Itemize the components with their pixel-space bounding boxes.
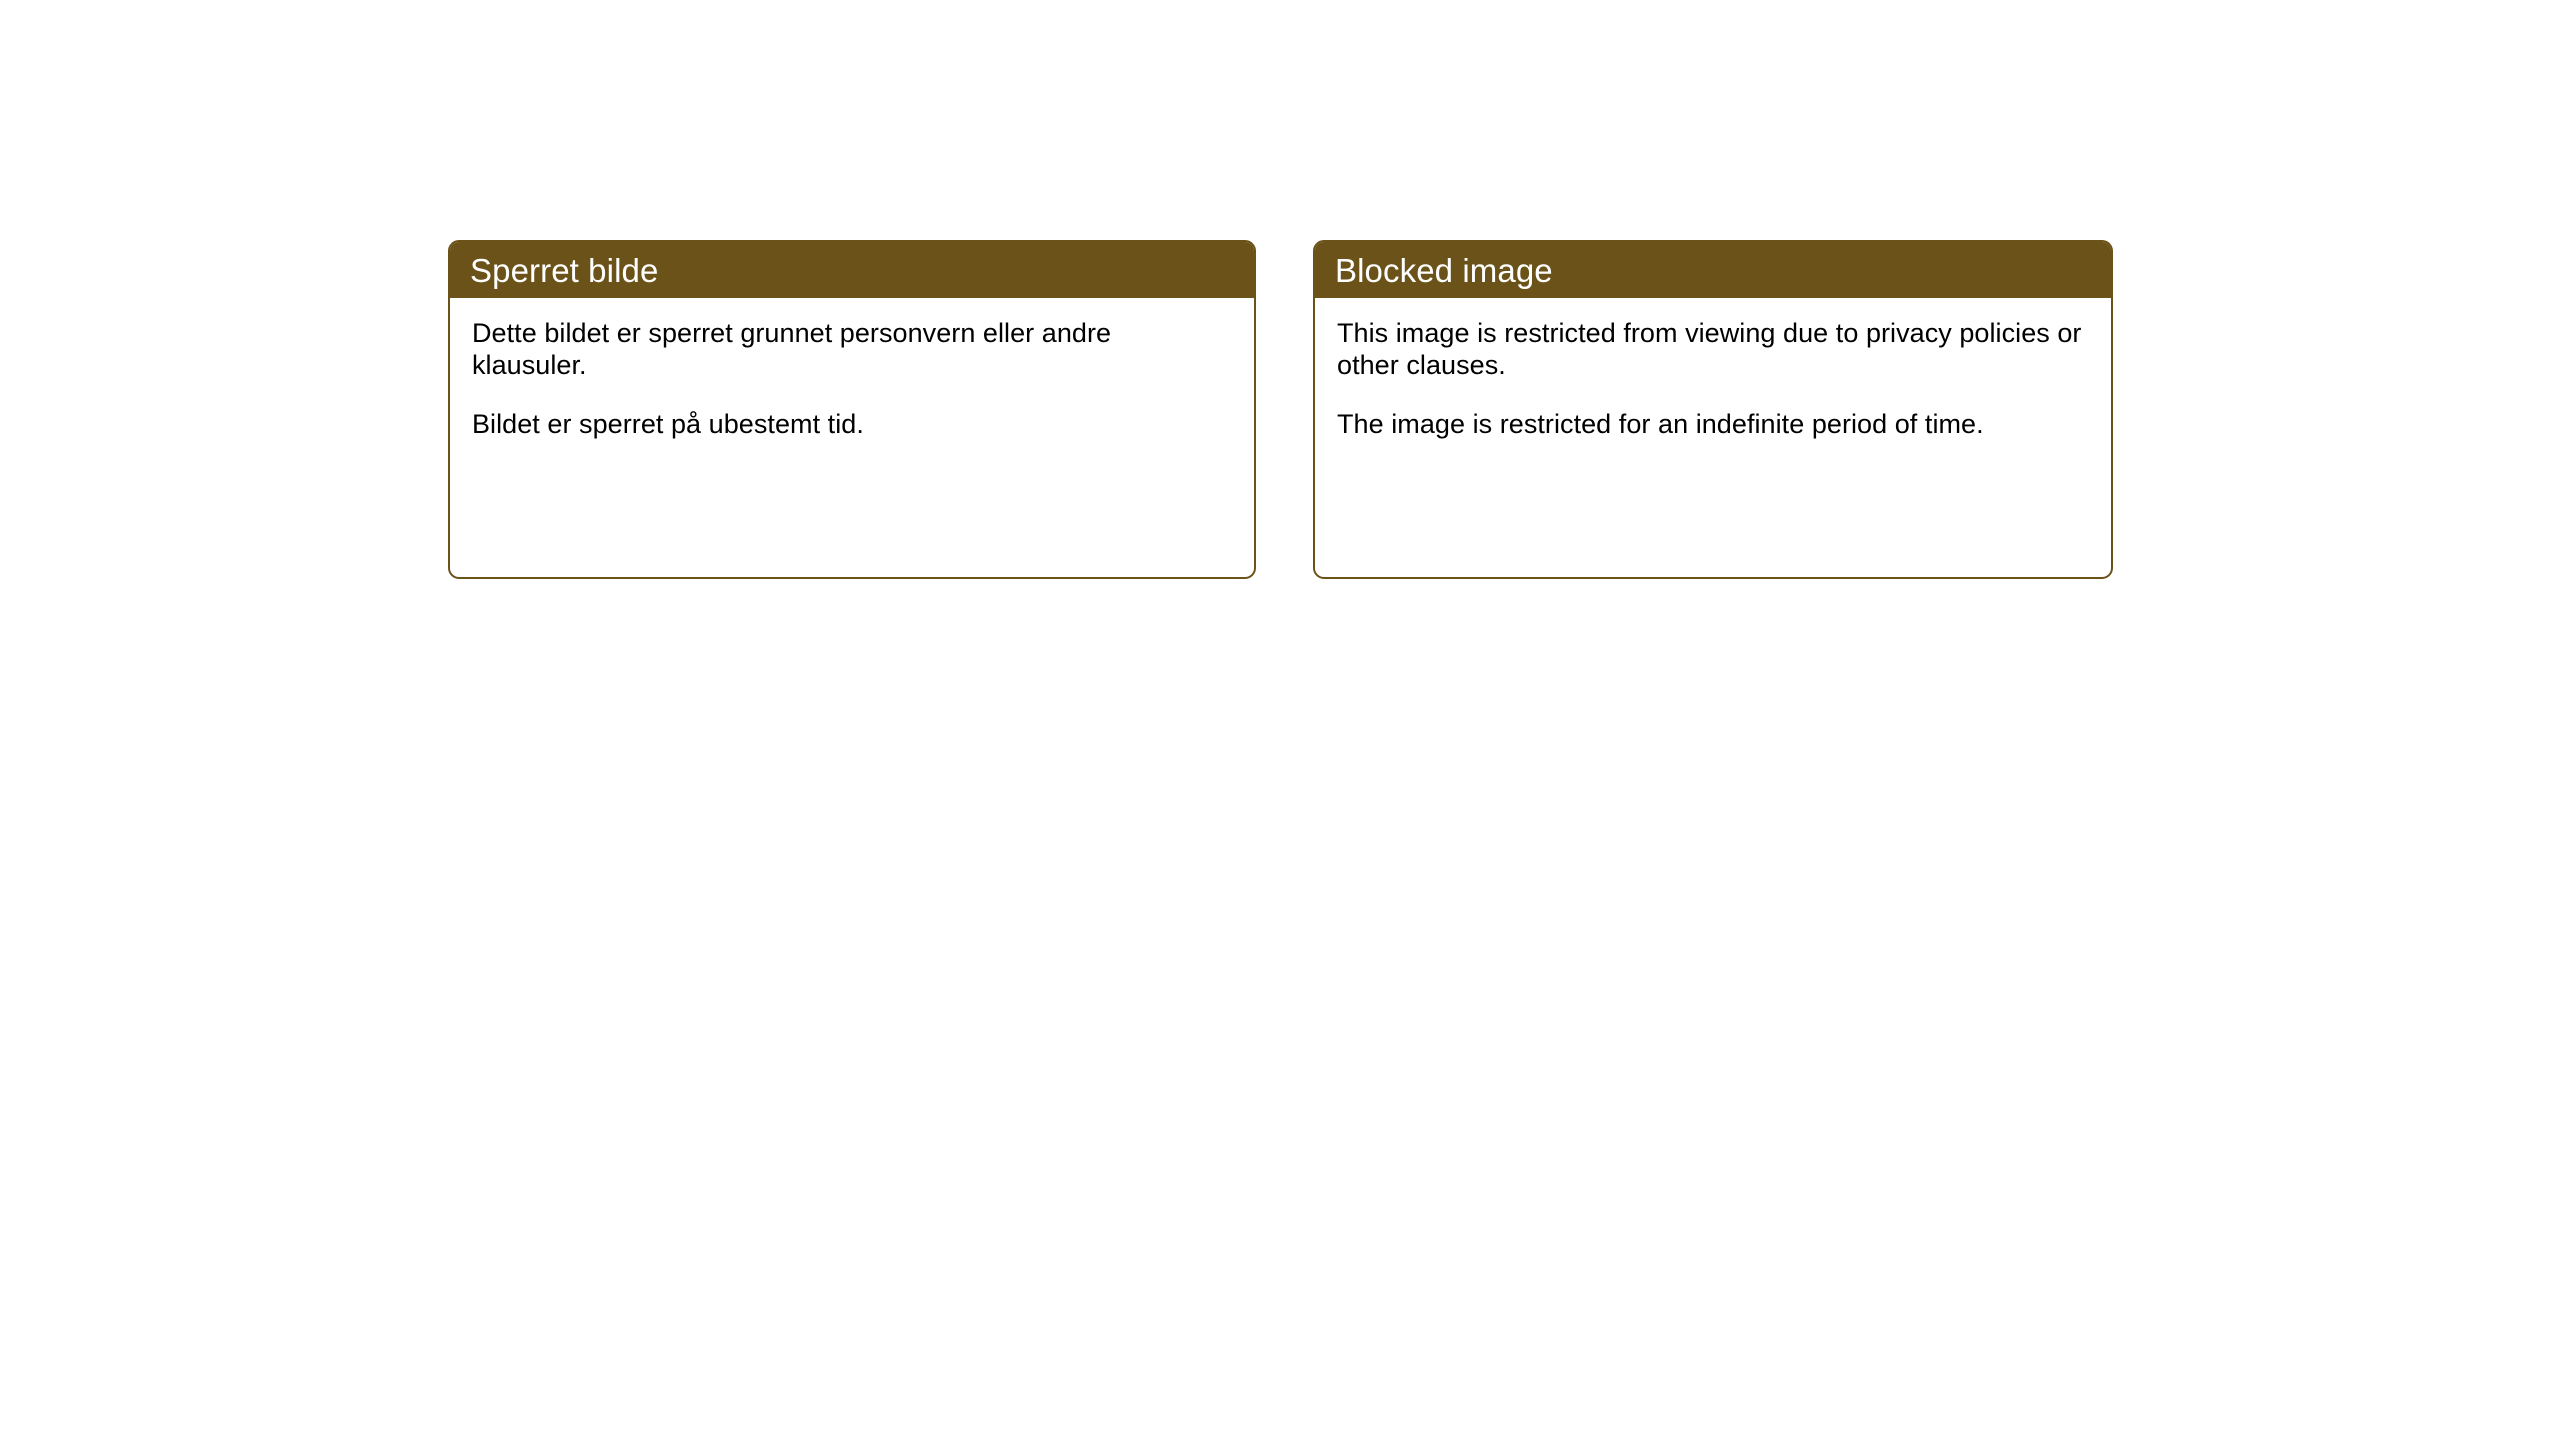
page-canvas: Sperret bilde Dette bildet er sperret gr… xyxy=(0,0,2560,1440)
card-title-norwegian: Sperret bilde xyxy=(470,254,658,287)
card-paragraph-duration-norwegian: Bildet er sperret på ubestemt tid. xyxy=(472,409,1232,441)
card-body-norwegian: Dette bildet er sperret grunnet personve… xyxy=(450,298,1254,441)
card-title-english: Blocked image xyxy=(1335,254,1553,287)
card-paragraph-reason-english: This image is restricted from viewing du… xyxy=(1337,318,2089,382)
card-body-english: This image is restricted from viewing du… xyxy=(1315,298,2111,441)
card-header-norwegian: Sperret bilde xyxy=(450,242,1254,298)
card-header-english: Blocked image xyxy=(1315,242,2111,298)
blocked-image-notice-norwegian: Sperret bilde Dette bildet er sperret gr… xyxy=(448,240,1256,579)
card-paragraph-duration-english: The image is restricted for an indefinit… xyxy=(1337,409,2089,441)
blocked-image-notice-english: Blocked image This image is restricted f… xyxy=(1313,240,2113,579)
card-paragraph-reason-norwegian: Dette bildet er sperret grunnet personve… xyxy=(472,318,1232,382)
